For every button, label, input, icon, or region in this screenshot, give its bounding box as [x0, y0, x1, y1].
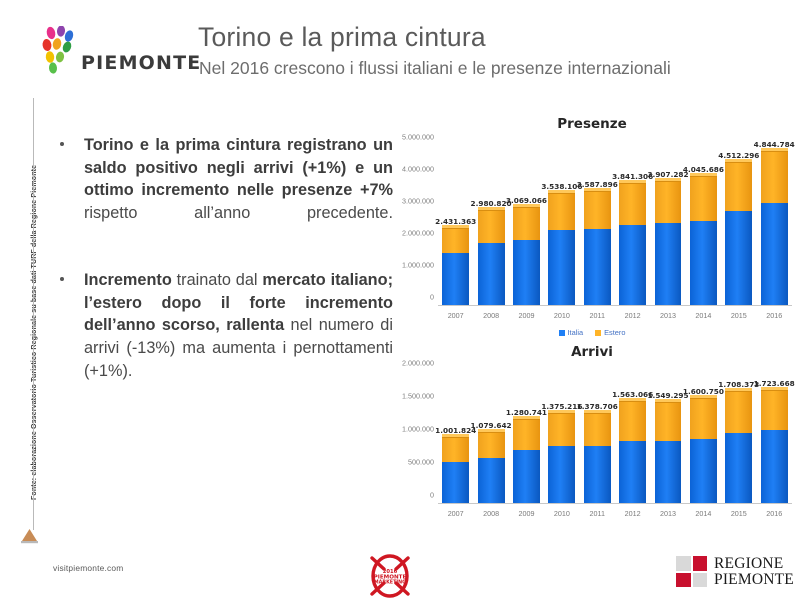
bar-segment-estero[interactable]: [513, 419, 540, 450]
bar-segment-estero[interactable]: [761, 151, 788, 203]
bar-column[interactable]: 3.069.066: [513, 146, 540, 305]
bar-segment-estero[interactable]: [655, 181, 682, 224]
bar-value-label: 1.378.706: [577, 402, 618, 411]
regione-crest-icon: [676, 556, 707, 587]
bar-column[interactable]: 2.980.820: [478, 146, 505, 305]
bar-value-label: 4.045.686: [683, 165, 724, 174]
bar-column[interactable]: 1.563.066: [619, 372, 646, 503]
bar-segment-italia[interactable]: [655, 223, 682, 305]
bar-segment-estero[interactable]: [478, 210, 505, 242]
bullet-dot-icon: [60, 142, 64, 146]
bar-value-label: 3.587.896: [577, 180, 618, 189]
x-axis-tick: 2009: [513, 509, 540, 518]
bar-segment-italia[interactable]: [725, 211, 752, 305]
y-axis-tick: 4.000.000: [402, 165, 434, 174]
bar-segment-italia[interactable]: [690, 439, 717, 503]
bar-column[interactable]: 1.600.750: [690, 372, 717, 503]
bar-column[interactable]: 2.431.363: [442, 146, 469, 305]
bar-segment-italia[interactable]: [584, 229, 611, 305]
legend-label: Estero: [604, 328, 625, 337]
x-axis-line: [438, 503, 792, 504]
bar-segment-estero[interactable]: [478, 432, 505, 458]
x-axis-ticks: 2007200820092010201120122013201420152016: [438, 311, 792, 320]
bar-segment-estero[interactable]: [442, 437, 469, 462]
side-divider: [33, 98, 34, 530]
bar-value-label: 2.431.363: [435, 217, 476, 226]
bar-column[interactable]: 1.708.373: [725, 372, 752, 503]
bar-column[interactable]: 3.538.106: [548, 146, 575, 305]
bar-column[interactable]: 3.587.896: [584, 146, 611, 305]
bar-value-label: 3.069.066: [506, 196, 547, 205]
x-axis-tick: 2008: [478, 509, 505, 518]
x-axis-tick: 2010: [548, 509, 575, 518]
bar-segment-estero[interactable]: [725, 391, 752, 433]
legend-item[interactable]: Italia: [559, 328, 584, 337]
bar-segment-italia[interactable]: [513, 240, 540, 305]
source-note: Fonte: elaborazione Osservatorio Turisti…: [18, 100, 34, 520]
logo-wordmark: PIEMONTE: [81, 52, 201, 74]
bar-value-label: 1.079.642: [471, 421, 512, 430]
chart-title: Presenze: [388, 116, 796, 132]
bar-column[interactable]: 3.907.282: [655, 146, 682, 305]
x-axis-tick: 2016: [761, 509, 788, 518]
y-axis-tick: 3.000.000: [402, 197, 434, 206]
bar-column[interactable]: 1.001.824: [442, 372, 469, 503]
bar-segment-estero[interactable]: [619, 401, 646, 441]
bar-column[interactable]: 1.549.295: [655, 372, 682, 503]
bar-segment-italia[interactable]: [442, 462, 469, 503]
footer-divider: [0, 540, 800, 541]
regione-piemonte-logo: REGIONE PIEMONTE: [676, 556, 794, 588]
x-axis-tick: 2013: [655, 311, 682, 320]
footer-url[interactable]: visitpiemonte.com: [53, 563, 123, 573]
x-axis-tick: 2011: [584, 311, 611, 320]
bar-column[interactable]: 1.723.668: [761, 372, 788, 503]
bar-group: 2.431.3632.980.8203.069.0663.538.1063.58…: [438, 146, 792, 305]
list-item-text: Incremento trainato dal mercato italiano…: [84, 271, 393, 380]
bar-segment-estero[interactable]: [584, 413, 611, 446]
y-axis-tick: 2.000.000: [402, 359, 434, 368]
legend-item[interactable]: Estero: [595, 328, 625, 337]
bar-segment-estero[interactable]: [548, 193, 575, 230]
bar-segment-italia[interactable]: [690, 221, 717, 305]
bar-segment-estero[interactable]: [513, 207, 540, 239]
bar-segment-italia[interactable]: [478, 243, 505, 305]
chart-legend: ItaliaEstero: [388, 328, 796, 337]
x-axis-tick: 2007: [442, 311, 469, 320]
x-axis-tick: 2013: [655, 509, 682, 518]
chart-presenze: Presenze 01.000.0002.000.0003.000.0004.0…: [388, 112, 796, 344]
page-subtitle: Nel 2016 crescono i flussi italiani e le…: [199, 57, 679, 79]
y-axis-tick: 0: [430, 293, 434, 302]
bar-column[interactable]: 4.512.296: [725, 146, 752, 305]
bar-column[interactable]: 1.280.741: [513, 372, 540, 503]
regione-wordmark: REGIONE PIEMONTE: [714, 556, 794, 588]
chart-arrivi: Arrivi 0500.0001.000.0001.500.0002.000.0…: [388, 340, 796, 530]
bar-segment-estero[interactable]: [442, 228, 469, 254]
bar-segment-estero[interactable]: [619, 183, 646, 225]
x-axis-tick: 2014: [690, 311, 717, 320]
bar-column[interactable]: 3.841.306: [619, 146, 646, 305]
bar-segment-italia[interactable]: [619, 225, 646, 305]
bar-segment-italia[interactable]: [655, 441, 682, 503]
legend-label: Italia: [568, 328, 584, 337]
x-axis-ticks: 2007200820092010201120122013201420152016: [438, 509, 792, 518]
piemonte-logo: PIEMONTE: [40, 26, 180, 81]
bar-segment-estero[interactable]: [584, 191, 611, 229]
x-axis-tick: 2012: [619, 311, 646, 320]
bar-value-label: 4.844.784: [754, 140, 795, 149]
svg-text:MARKETING: MARKETING: [374, 580, 406, 586]
bar-column[interactable]: 4.844.784: [761, 146, 788, 305]
bullet-list: Torino e la prima cintura registrano un …: [58, 134, 393, 427]
bar-segment-estero[interactable]: [655, 402, 682, 442]
bar-value-label: 4.512.296: [718, 151, 759, 160]
chart-plot-area: 01.000.0002.000.0003.000.0004.000.0005.0…: [438, 146, 792, 306]
bar-segment-italia[interactable]: [442, 253, 469, 305]
x-axis-tick: 2014: [690, 509, 717, 518]
bar-group: 1.001.8241.079.6421.280.7411.375.2161.37…: [438, 372, 792, 503]
side-emblem-icon: [20, 527, 39, 544]
bar-segment-italia[interactable]: [478, 458, 505, 503]
piemonte-marketing-badge-icon: 2016 PIEMONTE MARKETING: [362, 548, 418, 604]
chart-title: Arrivi: [388, 344, 796, 360]
bar-segment-italia[interactable]: [725, 433, 752, 503]
bar-segment-italia[interactable]: [548, 230, 575, 305]
list-item-text: Torino e la prima cintura registrano un …: [84, 136, 393, 222]
legend-swatch-icon: [559, 330, 565, 336]
bar-segment-estero[interactable]: [548, 413, 575, 446]
x-axis-line: [438, 305, 792, 306]
legend-swatch-icon: [595, 330, 601, 336]
logo-dots-icon: [40, 26, 80, 78]
bar-segment-italia[interactable]: [548, 446, 575, 503]
bar-segment-italia[interactable]: [619, 441, 646, 503]
bar-segment-italia[interactable]: [761, 203, 788, 305]
y-axis-tick: 1.500.000: [402, 392, 434, 401]
y-axis-tick: 1.000.000: [402, 425, 434, 434]
list-item: Incremento trainato dal mercato italiano…: [58, 269, 393, 405]
x-axis-tick: 2007: [442, 509, 469, 518]
y-axis-tick: 5.000.000: [402, 133, 434, 142]
bar-segment-estero[interactable]: [761, 390, 788, 430]
regione-line-1: REGIONE: [714, 556, 794, 572]
bar-segment-estero[interactable]: [690, 176, 717, 221]
bar-column[interactable]: 4.045.686: [690, 146, 717, 305]
y-axis-tick: 2.000.000: [402, 229, 434, 238]
bar-segment-estero[interactable]: [690, 398, 717, 439]
y-axis-tick: 1.000.000: [402, 261, 434, 270]
bar-column[interactable]: 1.378.706: [584, 372, 611, 503]
x-axis-tick: 2010: [548, 311, 575, 320]
x-axis-tick: 2015: [725, 311, 752, 320]
x-axis-tick: 2012: [619, 509, 646, 518]
regione-line-2: PIEMONTE: [714, 572, 794, 588]
bar-segment-italia[interactable]: [761, 430, 788, 503]
bar-segment-italia[interactable]: [584, 446, 611, 503]
x-axis-tick: 2011: [584, 509, 611, 518]
bar-column[interactable]: 1.375.216: [548, 372, 575, 503]
page-title: Torino e la prima cintura: [198, 22, 486, 53]
bar-segment-estero[interactable]: [725, 162, 752, 211]
x-axis-tick: 2009: [513, 311, 540, 320]
bar-value-label: 1.723.668: [754, 379, 795, 388]
y-axis-tick: 0: [430, 491, 434, 500]
x-axis-tick: 2016: [761, 311, 788, 320]
source-note-text: Fonte: elaborazione Osservatorio Turisti…: [30, 165, 38, 500]
y-axis-tick: 500.000: [408, 458, 434, 467]
bullet-dot-icon: [60, 277, 64, 281]
list-item: Torino e la prima cintura registrano un …: [58, 134, 393, 247]
bar-segment-italia[interactable]: [513, 450, 540, 503]
bar-column[interactable]: 1.079.642: [478, 372, 505, 503]
chart-plot-area: 0500.0001.000.0001.500.0002.000.000 1.00…: [438, 372, 792, 504]
x-axis-tick: 2015: [725, 509, 752, 518]
x-axis-tick: 2008: [478, 311, 505, 320]
